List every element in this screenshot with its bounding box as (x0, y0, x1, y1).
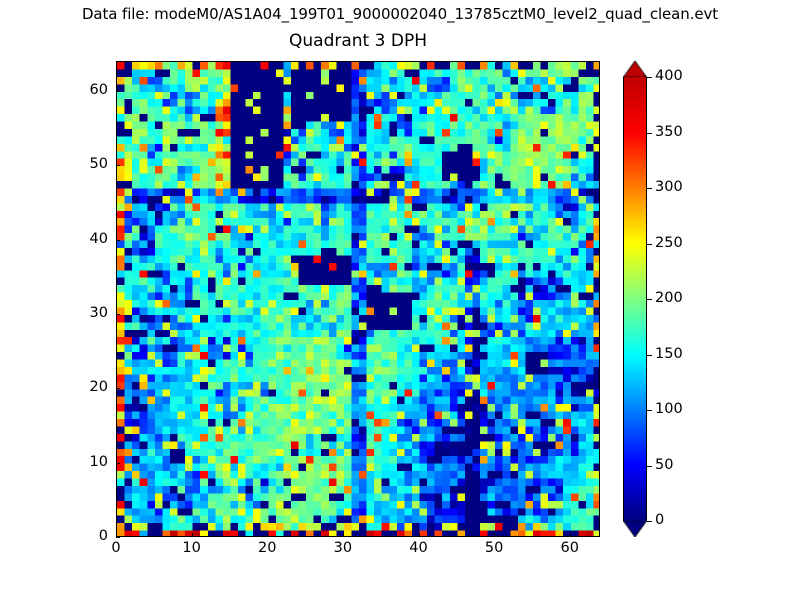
heatmap-image (117, 62, 600, 537)
figure-suptitle: Data file: modeM0/AS1A04_199T01_90000020… (0, 5, 800, 23)
x-tick-label: 60 (550, 540, 590, 556)
colorbar-tick-mark (647, 77, 652, 78)
y-tick-label: 10 (66, 454, 108, 470)
y-tick-label: 60 (66, 82, 108, 98)
x-tick-label: 20 (247, 540, 287, 556)
y-tick-mark (116, 314, 120, 315)
colorbar-tick-label: 250 (655, 235, 683, 251)
y-tick-label: 40 (66, 231, 108, 247)
y-tick-mark (116, 91, 120, 92)
y-tick-mark (116, 463, 120, 464)
colorbar-tick-label: 350 (655, 124, 683, 140)
y-tick-mark (116, 537, 120, 538)
colorbar-tick-label: 100 (655, 401, 683, 417)
colorbar-tick-label: 50 (655, 457, 673, 473)
page-title: Quadrant 3 DPH (116, 31, 600, 51)
colorbar-tick-mark (647, 244, 652, 245)
y-tick-label: 20 (66, 379, 108, 395)
x-tick-mark (192, 533, 193, 537)
x-tick-mark (343, 533, 344, 537)
colorbar-tick-mark (647, 355, 652, 356)
colorbar-extend-bottom-arrow-icon (623, 521, 647, 537)
colorbar-tick-mark (647, 466, 652, 467)
colorbar-body (623, 77, 647, 521)
figure-canvas: Data file: modeM0/AS1A04_199T01_90000020… (0, 0, 800, 600)
heatmap-axes[interactable] (116, 61, 600, 537)
y-tick-mark (116, 165, 120, 166)
colorbar-tick-mark (647, 410, 652, 411)
y-tick-mark (116, 388, 120, 389)
colorbar-tick-label: 200 (655, 290, 683, 306)
y-tick-label: 30 (66, 305, 108, 321)
x-tick-mark (494, 533, 495, 537)
colorbar[interactable] (623, 61, 647, 537)
colorbar-gradient (624, 77, 646, 521)
colorbar-tick-mark (647, 133, 652, 134)
colorbar-tick-label: 300 (655, 179, 683, 195)
colorbar-tick-mark (647, 188, 652, 189)
y-tick-label: 0 (66, 528, 108, 544)
colorbar-extend-top-arrow-icon (623, 61, 647, 77)
colorbar-tick-mark (647, 299, 652, 300)
x-tick-mark (267, 533, 268, 537)
colorbar-tick-label: 400 (655, 68, 683, 84)
x-tick-label: 30 (323, 540, 363, 556)
x-tick-mark (419, 533, 420, 537)
y-tick-mark (116, 240, 120, 241)
x-tick-label: 40 (399, 540, 439, 556)
x-tick-label: 50 (474, 540, 514, 556)
colorbar-tick-label: 0 (655, 512, 664, 528)
colorbar-tick-mark (647, 521, 652, 522)
y-tick-label: 50 (66, 156, 108, 172)
x-tick-label: 10 (172, 540, 212, 556)
colorbar-tick-label: 150 (655, 346, 683, 362)
x-tick-mark (570, 533, 571, 537)
